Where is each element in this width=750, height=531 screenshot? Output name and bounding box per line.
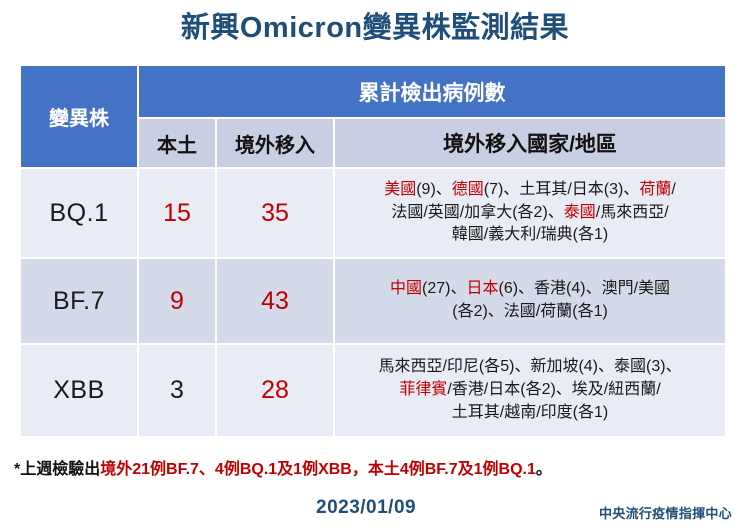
highlighted-country: 荷蘭 bbox=[639, 181, 671, 198]
header-imported: 境外移入 bbox=[217, 119, 333, 167]
cell-variant-name: BQ.1 bbox=[21, 169, 137, 257]
cell-imported-countries: 美國(9)、德國(7)、土耳其/日本(3)、荷蘭/法國/英國/加拿大(各2)、泰… bbox=[335, 169, 725, 257]
header-variant: 變異株 bbox=[21, 66, 137, 167]
table-row: BQ.1 15 35 美國(9)、德國(7)、土耳其/日本(3)、荷蘭/法國/英… bbox=[21, 169, 725, 257]
footnote: *上週檢驗出境外21例BF.7、4例BQ.1及1例XBB，本土4例BF.7及1例… bbox=[14, 455, 552, 479]
footnote-text: *上週檢驗出 bbox=[14, 461, 100, 478]
header-local: 本土 bbox=[139, 119, 215, 167]
cell-imported-countries: 馬來西亞/印尼(各5)、新加坡(4)、泰國(3)、菲律賓/香港/日本(各2)、埃… bbox=[335, 345, 725, 436]
page-title: 新興Omicron變異株監測結果 bbox=[0, 0, 750, 36]
highlighted-country: 德國 bbox=[452, 181, 484, 198]
country-text: (6)、香港(4)、澳門/美國 bbox=[498, 280, 670, 297]
highlighted-country: 日本 bbox=[466, 280, 498, 297]
cell-imported-countries: 中國(27)、日本(6)、香港(4)、澳門/美國(各2)、法國/荷蘭(各1) bbox=[335, 259, 725, 343]
variant-surveillance-table: 變異株 累計檢出病例數 本土 境外移入 境外移入國家/地區 BQ.1 15 35… bbox=[19, 64, 727, 438]
table-header-row-top: 變異株 累計檢出病例數 bbox=[21, 66, 725, 117]
cell-variant-name: XBB bbox=[21, 345, 137, 436]
cell-local-count: 15 bbox=[139, 169, 215, 257]
country-text: / bbox=[671, 181, 675, 198]
highlighted-country: 美國 bbox=[384, 181, 416, 198]
country-text: /香港/日本(各2)、埃及/紐西蘭/ bbox=[447, 381, 660, 398]
country-text: 法國/英國/加拿大(各2)、 bbox=[391, 204, 563, 221]
cell-local-count: 9 bbox=[139, 259, 215, 343]
country-text: 韓國/義大利/瑞典(各1) bbox=[452, 226, 608, 243]
footnote-text: 。 bbox=[536, 461, 552, 478]
cell-imported-count: 43 bbox=[217, 259, 333, 343]
country-text: 土耳其/越南/印度(各1) bbox=[452, 404, 608, 421]
footnote-highlight: 境外21例BF.7、4例BQ.1及1例XBB，本土4例BF.7及1例BQ.1 bbox=[100, 461, 536, 478]
country-text: (各2)、法國/荷蘭(各1) bbox=[452, 303, 608, 320]
cell-imported-count: 28 bbox=[217, 345, 333, 436]
table-row: BF.7 9 43 中國(27)、日本(6)、香港(4)、澳門/美國(各2)、法… bbox=[21, 259, 725, 343]
organization-name: 中央流行疫情指揮中心 bbox=[599, 503, 732, 522]
report-date: 2023/01/09 bbox=[316, 497, 416, 519]
table-row: XBB 3 28 馬來西亞/印尼(各5)、新加坡(4)、泰國(3)、菲律賓/香港… bbox=[21, 345, 725, 436]
cell-variant-name: BF.7 bbox=[21, 259, 137, 343]
country-text: (9)、 bbox=[416, 181, 452, 198]
country-text: 馬來西亞/印尼(各5)、新加坡(4)、泰國(3)、 bbox=[378, 358, 681, 375]
header-cumulative-cases: 累計檢出病例數 bbox=[139, 66, 725, 117]
country-text: (7)、土耳其/日本(3)、 bbox=[484, 181, 640, 198]
highlighted-country: 中國 bbox=[390, 280, 422, 297]
cell-local-count: 3 bbox=[139, 345, 215, 436]
cell-imported-count: 35 bbox=[217, 169, 333, 257]
highlighted-country: 菲律賓 bbox=[399, 381, 447, 398]
country-text: /馬來西亞/ bbox=[596, 204, 669, 221]
highlighted-country: 泰國 bbox=[564, 204, 596, 221]
header-imported-countries: 境外移入國家/地區 bbox=[335, 119, 725, 167]
country-text: (27)、 bbox=[422, 280, 466, 297]
